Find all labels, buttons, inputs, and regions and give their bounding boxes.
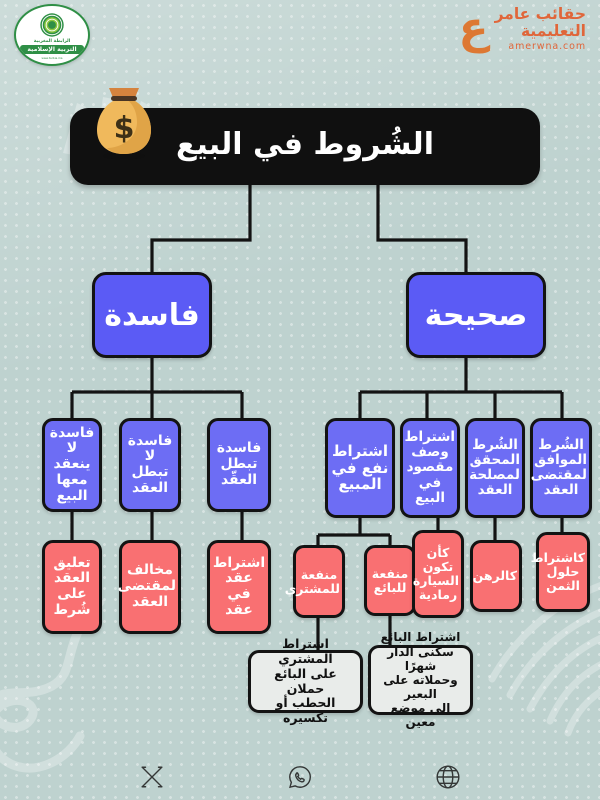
brand-text: حقائب عامر التعليمية amerwna.com: [495, 6, 586, 52]
infographic-canvas: الرابطة المغربية التربية الإسلامية www.t…: [0, 0, 600, 800]
brand-website[interactable]: amerwna.com: [508, 41, 586, 52]
brand-lockup: حقائب عامر التعليمية amerwna.com ع: [459, 6, 586, 52]
node-invalid-example-1[interactable]: مخالفلمقتضىالعقد: [119, 540, 181, 634]
node-invalid-example-0[interactable]: تعليقالعقدعلىشُرط: [42, 540, 102, 634]
islamic-rosette-icon: [39, 12, 65, 38]
brand-line-2: التعليمية: [521, 23, 586, 40]
node-invalid-child-0-label: فاسدةلا ينعقدمعهاالبيع: [47, 426, 97, 504]
branch-node-invalid[interactable]: فاسدة: [92, 272, 212, 358]
node-valid-example-2-label: كالرهن: [475, 569, 517, 583]
node-valid-example-3-label: كاشتراطحلولالثمن: [541, 551, 585, 593]
node-invalid-example-1-label: مخالفلمقتضىالعقد: [124, 563, 176, 610]
detail-box-buyer-benefit-text: اشتراط المشتريعلى البائع حملانالحطب أو ت…: [254, 637, 357, 726]
title-text: الشُروط في البيع: [80, 127, 530, 162]
node-invalid-example-2-label: اشتراطعقدفيعقد: [212, 556, 266, 619]
node-valid-child-3-label: الشُرطالموافقلمقتضىالعقد: [535, 438, 587, 498]
node-valid-example-1[interactable]: كأنتكونالسيارةرمادية: [412, 530, 464, 618]
branch-node-valid[interactable]: صحيحة: [406, 272, 546, 358]
node-valid-child-2-label: الشُرطالمحققلمصلحةالعقد: [470, 438, 520, 498]
node-valid-child-3[interactable]: الشُرطالموافقلمقتضىالعقد: [530, 418, 592, 518]
node-invalid-child-0[interactable]: فاسدةلا ينعقدمعهاالبيع: [42, 418, 102, 512]
detail-box-seller-benefit-text: اشتراط البائعسكنى الدار شهرًاوحملاته على…: [374, 630, 467, 729]
node-valid-example-0b-label: منفعةللبائع: [369, 567, 411, 595]
logo-line-2: التربية الإسلامية: [20, 45, 83, 54]
node-valid-example-1-label: كأنتكونالسيارةرمادية: [417, 546, 459, 602]
x-twitter-icon[interactable]: [139, 764, 165, 790]
node-invalid-example-0-label: تعليقالعقدعلىشُرط: [47, 556, 97, 619]
detail-box-buyer-benefit[interactable]: اشتراط المشتريعلى البائع حملانالحطب أو ت…: [248, 650, 363, 713]
node-valid-child-2[interactable]: الشُرطالمحققلمصلحةالعقد: [465, 418, 525, 518]
title-node: الشُروط في البيع: [70, 108, 540, 185]
node-invalid-child-2[interactable]: فاسدةتبطلالعقّد: [207, 418, 271, 512]
node-valid-child-1-label: اشتراطوصفمقصودفي البيع: [405, 430, 455, 506]
whatsapp-icon[interactable]: [287, 764, 313, 790]
footer-social-bar: [0, 757, 600, 797]
node-valid-example-0a-label: منفعةللمشتري: [298, 568, 340, 596]
brand-glyph-icon: ع: [459, 9, 489, 49]
node-invalid-example-2[interactable]: اشتراطعقدفيعقد: [207, 540, 271, 634]
node-valid-example-0b[interactable]: منفعةللبائع: [364, 545, 416, 616]
node-valid-example-3[interactable]: كاشتراطحلولالثمن: [536, 532, 590, 612]
node-valid-child-1[interactable]: اشتراطوصفمقصودفي البيع: [400, 418, 460, 518]
node-invalid-child-2-label: فاسدةتبطلالعقّد: [212, 441, 266, 488]
node-valid-child-0[interactable]: اشتراطنفع فيالمبيع: [325, 418, 395, 518]
detail-box-seller-benefit[interactable]: اشتراط البائعسكنى الدار شهرًاوحملاته على…: [368, 645, 473, 715]
globe-icon[interactable]: [435, 764, 461, 790]
branch-label-invalid: فاسدة: [95, 298, 209, 333]
branch-label-valid: صحيحة: [409, 298, 543, 333]
logo-line-1: الرابطة المغربية: [34, 39, 71, 44]
node-valid-child-0-label: اشتراطنفع فيالمبيع: [330, 443, 390, 493]
brand-line-1: حقائب عامر: [495, 6, 586, 23]
ministry-logo-badge: الرابطة المغربية التربية الإسلامية www.t…: [14, 4, 90, 66]
node-invalid-child-1-label: فاسدةلا تبطلالعقد: [124, 434, 176, 497]
node-invalid-child-1[interactable]: فاسدةلا تبطلالعقد: [119, 418, 181, 512]
logo-line-3: www.tarbia.ma: [41, 56, 62, 60]
node-valid-example-2[interactable]: كالرهن: [470, 540, 522, 612]
node-valid-example-0a[interactable]: منفعةللمشتري: [293, 545, 345, 618]
